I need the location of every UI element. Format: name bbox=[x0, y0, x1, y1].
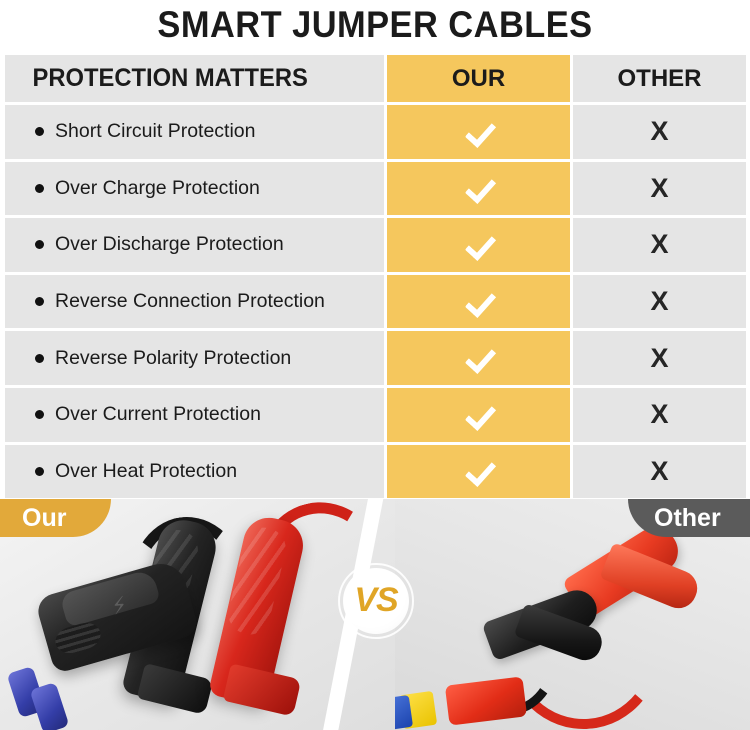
table-header-row: PROTECTION MATTERS OUR OTHER bbox=[5, 55, 746, 102]
table-row: Over Current Protection X bbox=[5, 388, 746, 442]
other-cell: X bbox=[573, 445, 746, 499]
our-cell bbox=[387, 218, 570, 272]
infographic-page: SMART JUMPER CABLES PROTECTION MATTERS O… bbox=[0, 0, 750, 730]
feature-label: Reverse Connection Protection bbox=[55, 290, 325, 313]
vs-label: VS bbox=[354, 583, 397, 617]
our-cell bbox=[387, 445, 570, 499]
other-cell: X bbox=[573, 331, 746, 385]
other-badge: Other bbox=[628, 499, 750, 537]
feature-cell: Short Circuit Protection bbox=[5, 105, 384, 159]
header-cell-feature: PROTECTION MATTERS bbox=[5, 55, 384, 102]
other-cell: X bbox=[573, 388, 746, 442]
other-cell: X bbox=[573, 105, 746, 159]
x-icon: X bbox=[650, 118, 668, 145]
check-icon bbox=[464, 287, 494, 317]
table-row: Reverse Polarity Protection X bbox=[5, 331, 746, 385]
bullet-icon bbox=[35, 467, 44, 476]
feature-cell: Over Heat Protection bbox=[5, 445, 384, 499]
our-cell bbox=[387, 331, 570, 385]
bullet-icon bbox=[35, 410, 44, 419]
header-cell-our: OUR bbox=[387, 55, 570, 102]
check-icon bbox=[464, 173, 494, 203]
feature-label: Over Discharge Protection bbox=[55, 233, 284, 256]
x-icon: X bbox=[650, 345, 668, 372]
table-row: Over Charge Protection X bbox=[5, 162, 746, 216]
bullet-icon bbox=[35, 354, 44, 363]
x-icon: X bbox=[650, 231, 668, 258]
feature-cell: Over Discharge Protection bbox=[5, 218, 384, 272]
page-title: SMART JUMPER CABLES bbox=[26, 0, 724, 50]
x-icon: X bbox=[650, 458, 668, 485]
table-row: Reverse Connection Protection X bbox=[5, 275, 746, 329]
our-cell bbox=[387, 162, 570, 216]
comparison-table: PROTECTION MATTERS OUR OTHER Short Circu… bbox=[5, 55, 746, 496]
bullet-icon bbox=[35, 297, 44, 306]
header-cell-other: OTHER bbox=[573, 55, 746, 102]
bullet-icon bbox=[35, 240, 44, 249]
header-other-label: OTHER bbox=[618, 65, 702, 93]
other-cell: X bbox=[573, 275, 746, 329]
other-badge-label: Other bbox=[654, 504, 721, 533]
feature-label: Over Charge Protection bbox=[55, 177, 260, 200]
our-badge-label: Our bbox=[22, 504, 66, 533]
table-row: Short Circuit Protection X bbox=[5, 105, 746, 159]
bullet-icon bbox=[35, 184, 44, 193]
table-row: Over Discharge Protection X bbox=[5, 218, 746, 272]
header-feature-label: PROTECTION MATTERS bbox=[5, 64, 308, 93]
header-our-label: OUR bbox=[452, 65, 505, 93]
x-icon: X bbox=[650, 288, 668, 315]
bullet-icon bbox=[35, 127, 44, 136]
check-icon bbox=[464, 117, 494, 147]
check-icon bbox=[464, 230, 494, 260]
other-cell: X bbox=[573, 162, 746, 216]
table-row: Over Heat Protection X bbox=[5, 445, 746, 499]
check-icon bbox=[464, 400, 494, 430]
vs-badge: VS bbox=[338, 563, 414, 639]
vs-disc: VS bbox=[343, 568, 409, 634]
our-cell bbox=[387, 105, 570, 159]
x-icon: X bbox=[650, 401, 668, 428]
our-cell bbox=[387, 275, 570, 329]
feature-label: Over Heat Protection bbox=[55, 460, 237, 483]
feature-cell: Reverse Polarity Protection bbox=[5, 331, 384, 385]
feature-label: Over Current Protection bbox=[55, 403, 261, 426]
feature-cell: Over Charge Protection bbox=[5, 162, 384, 216]
feature-cell: Over Current Protection bbox=[5, 388, 384, 442]
feature-cell: Reverse Connection Protection bbox=[5, 275, 384, 329]
other-cell: X bbox=[573, 218, 746, 272]
x-icon: X bbox=[650, 175, 668, 202]
feature-label: Short Circuit Protection bbox=[55, 120, 256, 143]
check-icon bbox=[464, 456, 494, 486]
our-cell bbox=[387, 388, 570, 442]
check-icon bbox=[464, 343, 494, 373]
feature-label: Reverse Polarity Protection bbox=[55, 347, 291, 370]
